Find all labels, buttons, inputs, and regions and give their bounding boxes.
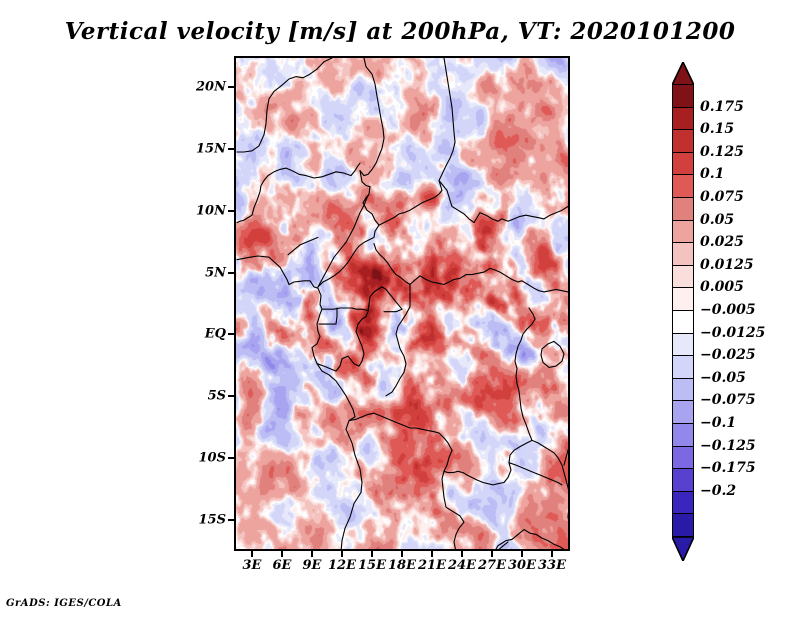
x-axis-tick [491,551,493,557]
colorbar-swatch [672,197,694,221]
colorbar-tick-label: 0.1 [700,166,724,182]
colorbar-tick-label: −0.075 [700,392,756,408]
x-axis-label: 6E [273,558,292,573]
colorbar-swatch [672,242,694,266]
y-axis-label: 5S [208,389,226,404]
y-axis-tick [228,519,234,521]
colorbar-max-arrow [672,62,694,84]
x-axis-tick [311,551,313,557]
colorbar-tick-label: −0.2 [700,483,736,499]
x-axis-tick [521,551,523,557]
colorbar-swatch [672,446,694,470]
x-axis-label: 30E [508,558,536,573]
y-axis-label: EQ [205,327,226,342]
colorbar-tick-label: 0.005 [700,279,744,295]
y-axis-tick [228,86,234,88]
y-axis-label: 10S [199,451,226,466]
colorbar-tick-label: −0.05 [700,370,746,386]
x-axis-label: 24E [448,558,476,573]
colorbar-swatch [672,265,694,289]
x-axis-tick [401,551,403,557]
colorbar-tick-label: −0.125 [700,438,756,454]
colorbar-tick-label: 0.15 [700,121,734,137]
x-axis-tick [281,551,283,557]
colorbar-swatch [672,84,694,108]
colorbar-tick-label: −0.1 [700,415,736,431]
y-axis-label: 10N [196,203,226,218]
y-axis-tick [228,148,234,150]
x-axis-tick [341,551,343,557]
colorbar-tick-label: 0.125 [700,144,744,160]
x-axis-label: 15E [358,558,386,573]
colorbar-swatch [672,378,694,402]
colorbar-tick-label: −0.005 [700,302,756,318]
y-axis-tick [228,272,234,274]
y-axis-tick [228,457,234,459]
x-axis-label: 21E [418,558,446,573]
grads-attribution: GrADS: IGES/COLA [6,598,122,609]
colorbar-swatch [672,129,694,153]
x-axis-tick [551,551,553,557]
colorbar-tick-label: −0.025 [700,347,756,363]
colorbar-tick-label: 0.075 [700,189,744,205]
colorbar-swatch [672,355,694,379]
colorbar-tick-label: 0.0125 [700,257,754,273]
colorbar-swatch [672,513,694,537]
colorbar-tick-label: 0.175 [700,99,744,115]
colorbar-tick-label: −0.0125 [700,325,765,341]
page-title: Vertical velocity [m/s] at 200hPa, VT: 2… [0,18,800,45]
colorbar-tick-label: 0.05 [700,212,734,228]
colorbar-swatch [672,152,694,176]
y-axis-label: 5N [205,265,226,280]
colorbar-tick-label: 0.025 [700,234,744,250]
x-axis-tick [431,551,433,557]
colorbar-swatch [672,333,694,357]
colorbar-swatch [672,310,694,334]
x-axis-label: 9E [303,558,322,573]
y-axis-label: 15S [199,513,226,528]
colorbar-swatch [672,287,694,311]
y-axis-tick [228,333,234,335]
colorbar-tick-label: −0.175 [700,460,756,476]
colorbar-swatch [672,174,694,198]
x-axis-label: 12E [328,558,356,573]
colorbar-swatch [672,423,694,447]
x-axis-label: 27E [478,558,506,573]
plot-area: 20N15N10N5NEQ5S10S15S3E6E9E12E15E18E21E2… [234,56,570,551]
x-axis-tick [371,551,373,557]
colorbar-min-arrow [672,537,694,559]
colorbar-swatch [672,400,694,424]
x-axis-label: 18E [388,558,416,573]
x-axis-label: 33E [538,558,566,573]
map-panel [234,56,570,551]
y-axis-label: 15N [196,141,226,156]
vertical-velocity-heatmap [236,58,570,551]
y-axis-tick [228,210,234,212]
x-axis-label: 3E [243,558,262,573]
colorbar: 0.1750.150.1250.10.0750.050.0250.01250.0… [668,62,798,562]
x-axis-tick [251,551,253,557]
colorbar-swatch [672,491,694,515]
x-axis-tick [461,551,463,557]
colorbar-swatch [672,220,694,244]
y-axis-tick [228,395,234,397]
colorbar-swatch [672,107,694,131]
y-axis-label: 20N [196,79,226,94]
colorbar-swatch [672,468,694,492]
